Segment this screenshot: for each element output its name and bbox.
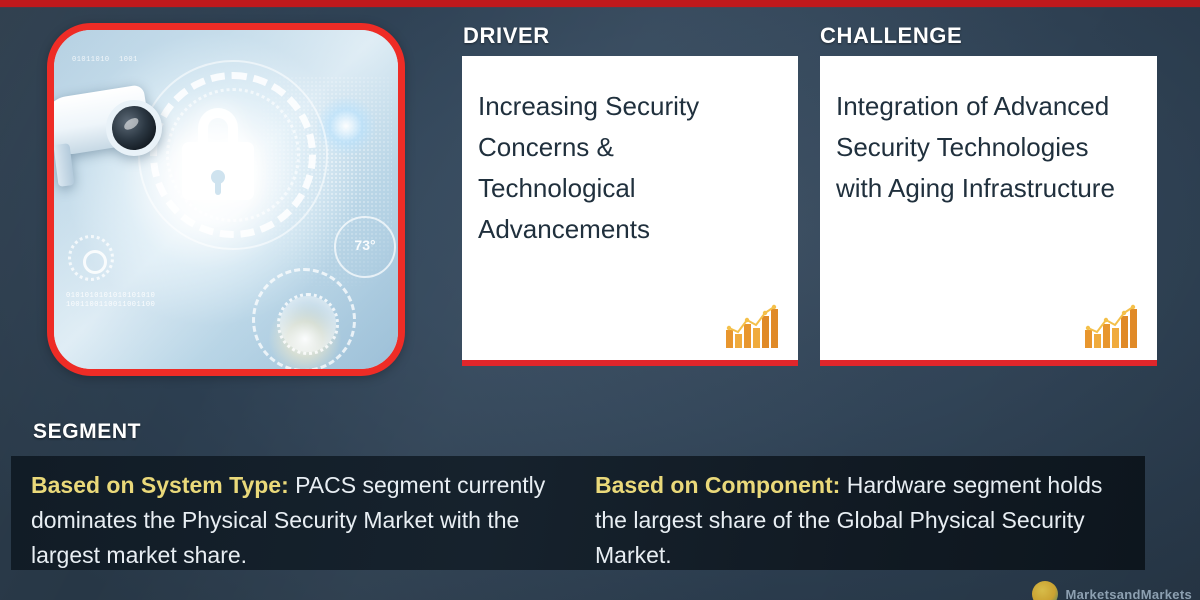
hud-gauge-large-icon [252,268,356,372]
hud-data-text-bottom: 0101010101010101010 1001100110011001100 [66,292,155,310]
padlock-keyhole [211,170,225,184]
segment-item-system-type: Based on System Type: PACS segment curre… [31,468,551,573]
padlock-icon [182,108,254,200]
challenge-card: Integration of Advanced Security Technol… [820,56,1157,366]
illustration-background: 73° 01011010 1001 0101010101010101010 10… [54,30,398,369]
hud-temperature-gauge: 73° [334,216,396,278]
driver-card: Increasing Security Concerns & Technolog… [462,56,798,366]
hud-gauge-small-icon [68,235,114,281]
infographic-canvas: 73° 01011010 1001 0101010101010101010 10… [0,0,1200,600]
challenge-section-label: CHALLENGE [820,23,962,49]
gauge-value-label: 73° [336,237,394,253]
bar-chart-growth-icon [724,304,786,350]
top-accent-strip [0,0,1200,7]
driver-section-label: DRIVER [463,23,550,49]
challenge-card-text: Integration of Advanced Security Technol… [836,86,1137,209]
segment-panel: Based on System Type: PACS segment curre… [11,456,1145,570]
segment-item-component: Based on Component: Hardware segment hol… [595,468,1115,573]
segment-item-key: Based on Component: [595,472,840,498]
bar-chart-growth-icon [1083,304,1145,350]
brand-globe-icon [1032,581,1058,600]
hud-data-text-top: 01011010 1001 [72,56,138,65]
security-camera-icon [47,82,190,192]
physical-security-illustration-card: 73° 01011010 1001 0101010101010101010 10… [47,23,405,376]
brand-watermark: MarketsandMarkets [1032,581,1193,600]
driver-card-text: Increasing Security Concerns & Technolog… [478,86,778,250]
padlock-body [182,142,254,200]
brand-watermark-label: MarketsandMarkets [1066,587,1193,600]
segment-section-label: SEGMENT [33,420,141,444]
segment-item-key: Based on System Type: [31,472,289,498]
